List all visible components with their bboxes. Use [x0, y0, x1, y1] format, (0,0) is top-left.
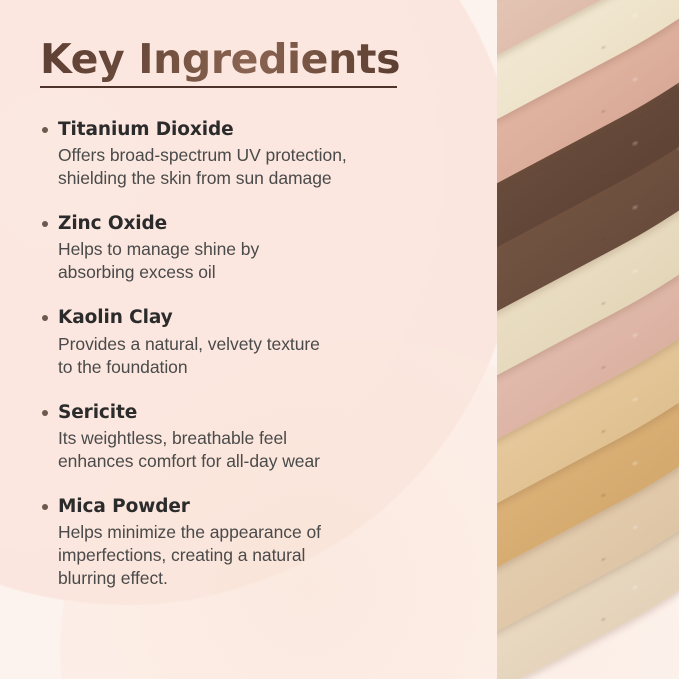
key-ingredients-panel: Key Ingredients Titanium DioxideOffers b… [0, 0, 679, 679]
bullet-icon [42, 221, 48, 227]
ingredient-description: Helps to manage shine by absorbing exces… [58, 238, 440, 284]
powder-stripe-group [497, 0, 679, 679]
ingredient-name: Kaolin Clay [58, 306, 440, 330]
page-title: Key Ingredients [40, 36, 400, 83]
bullet-icon [42, 127, 48, 133]
ingredient-list: Titanium DioxideOffers broad-spectrum UV… [40, 118, 440, 590]
list-item: Zinc OxideHelps to manage shine by absor… [40, 212, 440, 284]
list-item: SericiteIts weightless, breathable feel … [40, 401, 440, 473]
ingredient-description: Offers broad-spectrum UV protection, shi… [58, 144, 440, 190]
list-item: Kaolin ClayProvides a natural, velvety t… [40, 306, 440, 378]
bullet-icon [42, 410, 48, 416]
bullet-icon [42, 315, 48, 321]
ingredient-name: Zinc Oxide [58, 212, 440, 236]
title-underline [40, 86, 397, 88]
ingredient-name: Sericite [58, 401, 440, 425]
bullet-icon [42, 504, 48, 510]
list-item: Mica PowderHelps minimize the appearance… [40, 495, 440, 590]
ingredient-description: Provides a natural, velvety texture to t… [58, 333, 440, 379]
list-item: Titanium DioxideOffers broad-spectrum UV… [40, 118, 440, 190]
ingredient-description: Its weightless, breathable feel enhances… [58, 427, 440, 473]
ingredient-name: Titanium Dioxide [58, 118, 440, 142]
powder-swatch-image [497, 0, 679, 679]
ingredient-name: Mica Powder [58, 495, 440, 519]
page-title-block: Key Ingredients [40, 36, 400, 88]
ingredient-description: Helps minimize the appearance of imperfe… [58, 521, 440, 590]
